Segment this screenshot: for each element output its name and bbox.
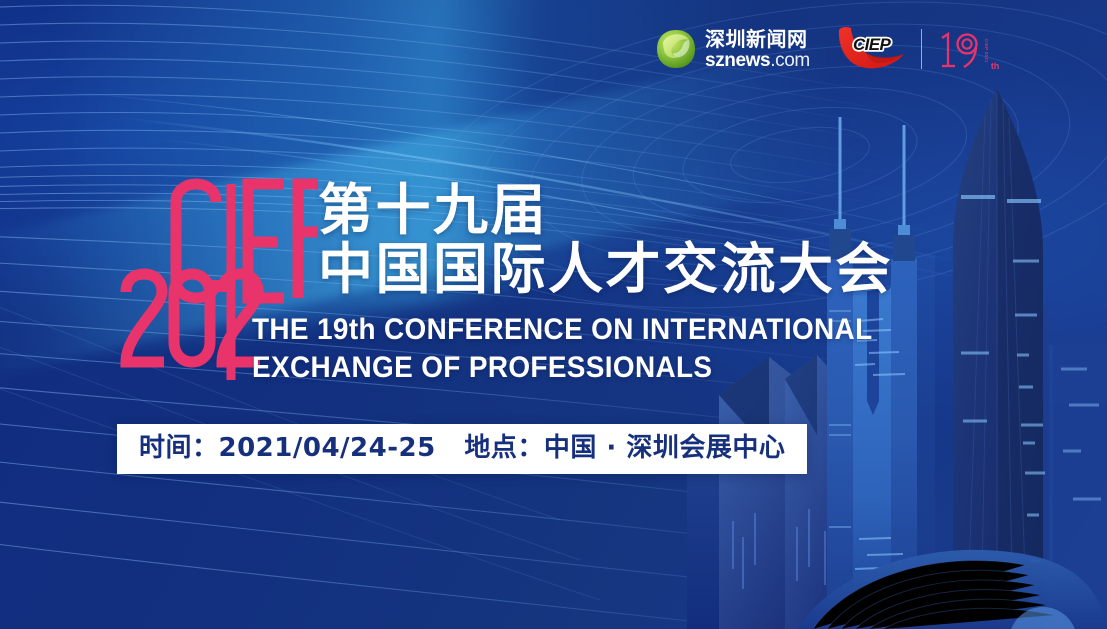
- conference-banner: 深圳新闻网 sznews.com CIEP C: [0, 0, 1107, 629]
- title-line-2: 中国国际人才交流大会: [318, 240, 893, 299]
- svg-text:CIEP: CIEP: [853, 35, 892, 54]
- leaf-swirl-icon: [655, 28, 697, 70]
- subtitle-line-1: THE 19th CONFERENCE ON INTERNATIONAL: [252, 311, 872, 349]
- subtitle-english: THE 19th CONFERENCE ON INTERNATIONAL EXC…: [252, 311, 872, 388]
- sznews-domain-tld: .com: [770, 50, 810, 71]
- ciep-swoosh-icon: CIEP CIEP: [836, 26, 908, 72]
- sznews-chinese-name: 深圳新闻网: [705, 29, 810, 49]
- edition-suffix: th: [991, 61, 999, 71]
- logo-divider: [921, 29, 922, 69]
- ciep-logo[interactable]: CIEP CIEP CIEP 2021 th: [836, 26, 999, 72]
- header-logo-group: 深圳新闻网 sznews.com CIEP C: [655, 26, 999, 72]
- event-info-text: 时间：2021/04/24-25 地点：中国 · 深圳会展中心: [139, 435, 785, 461]
- edition-side-text: CIEP 2021: [983, 27, 989, 63]
- title-line-1: 第十九届: [318, 181, 893, 240]
- sznews-domain-bold: sznews: [705, 50, 770, 71]
- sznews-wordmark: 深圳新闻网 sznews.com: [705, 29, 810, 70]
- edition-number-19: [935, 26, 981, 72]
- edition-badge: CIEP 2021 th: [935, 26, 999, 72]
- event-info-bar: 时间：2021/04/24-25 地点：中国 · 深圳会展中心: [117, 424, 807, 474]
- sznews-domain: sznews.com: [705, 51, 810, 70]
- page-title: 第十九届 中国国际人才交流大会: [318, 181, 893, 299]
- subtitle-line-2: EXCHANGE OF PROFESSIONALS: [252, 349, 872, 387]
- sznews-logo[interactable]: 深圳新闻网 sznews.com: [655, 28, 810, 70]
